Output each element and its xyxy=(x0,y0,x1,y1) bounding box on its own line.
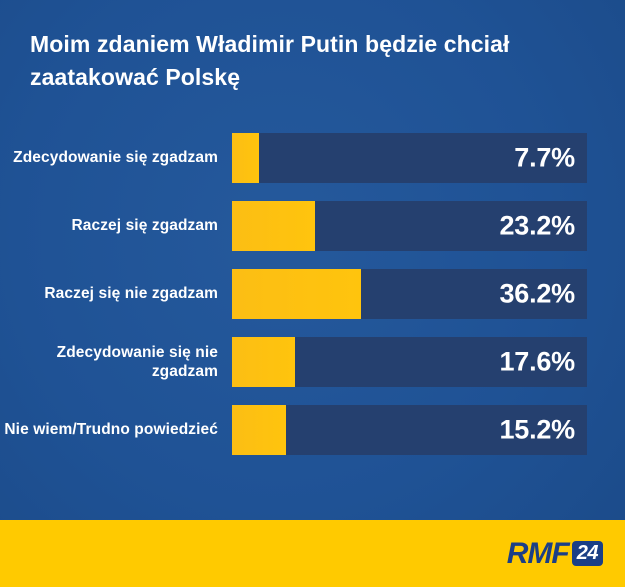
bar-value-label: 15.2% xyxy=(499,415,575,446)
bar-category-label: Raczej się zgadzam xyxy=(0,216,232,235)
infographic-poll-chart: Moim zdaniem Władimir Putin będzie chcia… xyxy=(0,0,625,587)
chart-row: Raczej się zgadzam 23.2% xyxy=(0,192,625,260)
bar-value-label: 7.7% xyxy=(514,143,575,174)
bar-chart: Zdecydowanie się zgadzam 7.7% Raczej się… xyxy=(0,124,625,464)
logo-wordmark: RMF xyxy=(507,537,569,571)
bar-category-label: Nie wiem/Trudno powiedzieć xyxy=(0,420,232,439)
bar-value-label: 17.6% xyxy=(499,347,575,378)
bar-fill xyxy=(232,201,315,251)
bar-track: 36.2% xyxy=(232,269,587,319)
bar-fill xyxy=(232,337,295,387)
bar-category-label: Raczej się nie zgadzam xyxy=(0,284,232,303)
bar-track: 17.6% xyxy=(232,337,587,387)
bar-fill xyxy=(232,405,286,455)
bar-value-label: 23.2% xyxy=(499,211,575,242)
bar-track: 23.2% xyxy=(232,201,587,251)
bar-track: 15.2% xyxy=(232,405,587,455)
page-title: Moim zdaniem Władimir Putin będzie chcia… xyxy=(30,28,600,93)
bar-fill xyxy=(232,133,259,183)
chart-row: Zdecydowanie się nie zgadzam 17.6% xyxy=(0,328,625,396)
chart-row: Raczej się nie zgadzam 36.2% xyxy=(0,260,625,328)
bar-value-label: 36.2% xyxy=(499,279,575,310)
bar-track: 7.7% xyxy=(232,133,587,183)
chart-row: Nie wiem/Trudno powiedzieć 15.2% xyxy=(0,396,625,464)
bar-category-label: Zdecydowanie się zgadzam xyxy=(0,148,232,167)
chart-row: Zdecydowanie się zgadzam 7.7% xyxy=(0,124,625,192)
logo-badge-24: 24 xyxy=(572,541,603,566)
footer-band: RMF 24 xyxy=(0,520,625,587)
bar-fill xyxy=(232,269,361,319)
bar-category-label: Zdecydowanie się nie zgadzam xyxy=(0,343,232,382)
rmf24-logo: RMF 24 xyxy=(507,537,603,571)
